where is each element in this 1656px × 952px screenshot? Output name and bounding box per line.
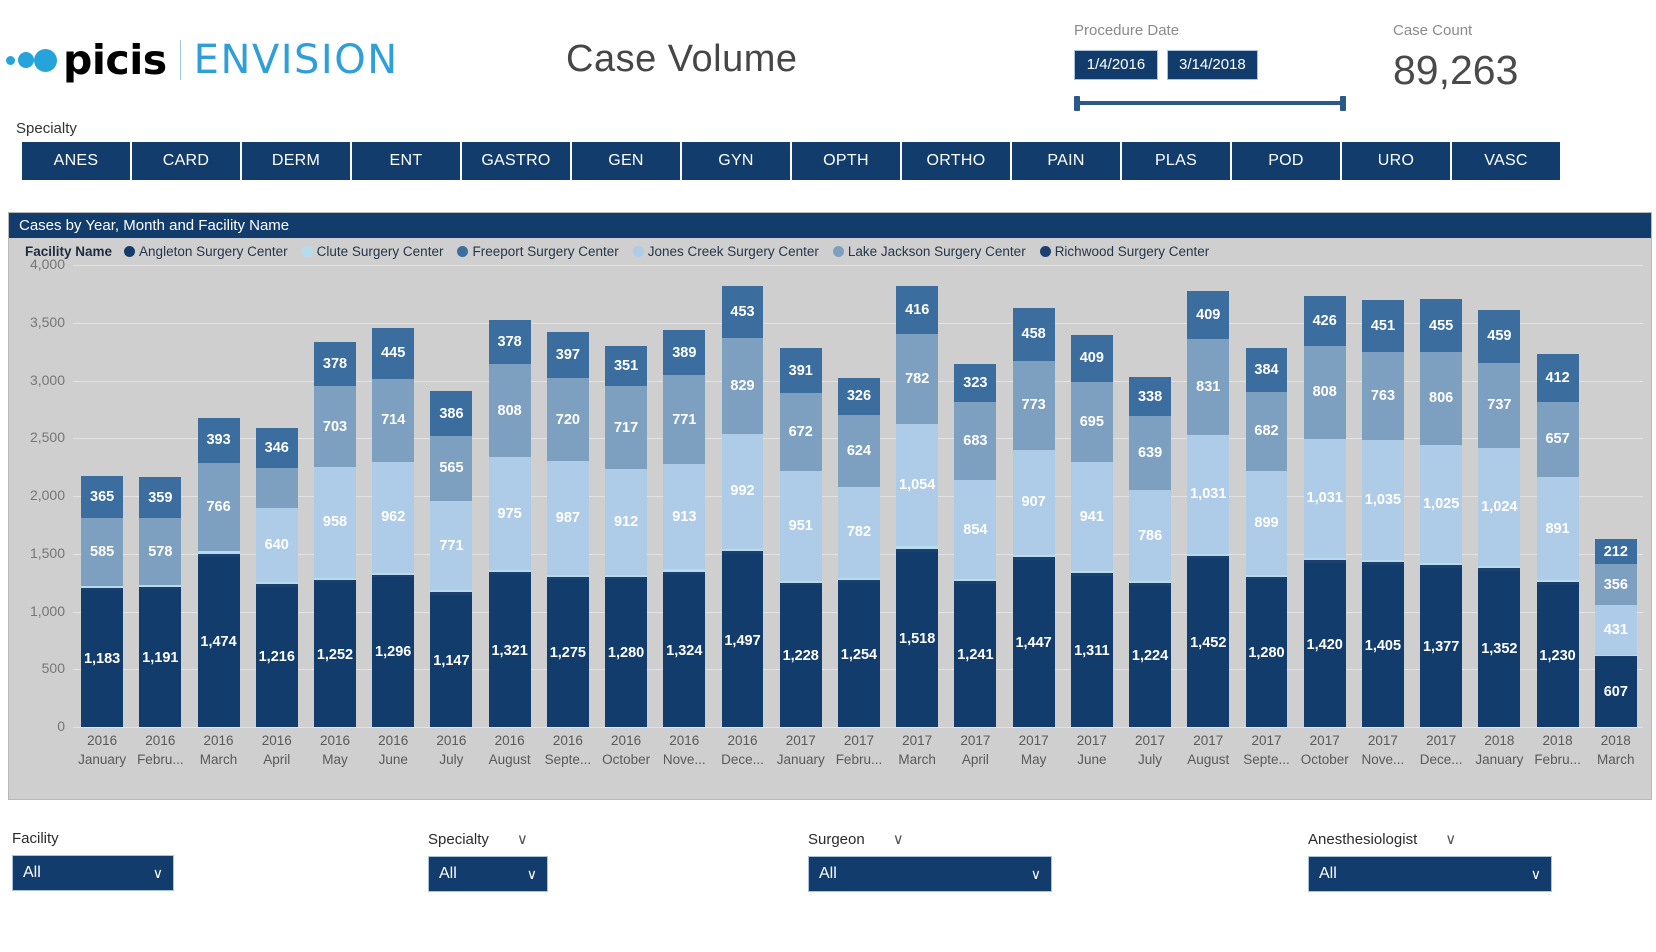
bar-segment[interactable]: 1,183 — [81, 590, 123, 727]
bar-segment[interactable]: 808 — [489, 364, 531, 457]
bar-segment[interactable]: 1,405 — [1362, 565, 1404, 727]
bar-segment-label: 975 — [498, 506, 522, 522]
bar-segment[interactable]: 386 — [430, 391, 472, 436]
bar-segment[interactable]: 782 — [838, 487, 880, 577]
bar-segment[interactable]: 445 — [372, 328, 414, 379]
chart-column[interactable]: 1,296962714445 — [364, 265, 422, 727]
chevron-down-icon[interactable]: ∨ — [1445, 830, 1456, 848]
bar-segment[interactable]: 1,147 — [430, 595, 472, 727]
bar-segment[interactable]: 412 — [1537, 354, 1579, 402]
bar-segment[interactable]: 831 — [1187, 339, 1229, 435]
chart-column[interactable]: 1,3521,024737459 — [1470, 265, 1528, 727]
bar-segment-label: 346 — [265, 440, 289, 456]
bar-segment[interactable]: 1,241 — [954, 584, 996, 727]
bar-segment[interactable]: 346 — [256, 428, 298, 468]
chart-column[interactable]: 1,275987720397 — [539, 265, 597, 727]
bar-segment[interactable]: 624 — [838, 415, 880, 487]
bar-segment[interactable]: 378 — [489, 320, 531, 364]
x-axis-month: Dece... — [1412, 750, 1470, 769]
filter-anesthesiologist: Anesthesiologist∨All∨ — [1308, 830, 1552, 892]
y-axis-tick-label: 3,500 — [9, 314, 65, 330]
bar-segment-label: 714 — [381, 412, 405, 428]
bar-segment-label: 1,054 — [899, 477, 935, 493]
chart-column[interactable]: 1,311941695409 — [1063, 265, 1121, 727]
bar-segment[interactable]: 771 — [430, 501, 472, 590]
bar-segment-label: 391 — [789, 363, 813, 379]
filter-label: Anesthesiologist — [1308, 831, 1417, 848]
x-axis-tick-label: 2017Nove... — [1354, 731, 1412, 769]
bar-segment[interactable]: 1,497 — [722, 554, 764, 727]
bar-segment-label: 1,252 — [317, 647, 353, 663]
bar-segment[interactable]: 338 — [1129, 377, 1171, 416]
chevron-down-icon[interactable]: ∨ — [893, 830, 904, 848]
bar-segment-label: 338 — [1138, 389, 1162, 405]
bar-segment[interactable]: 459 — [1478, 310, 1520, 363]
bar-segment[interactable]: 1,352 — [1478, 571, 1520, 727]
bar-segment[interactable]: 639 — [1129, 416, 1171, 490]
bar-segment[interactable]: 1,296 — [372, 577, 414, 727]
x-axis-year: 2017 — [830, 731, 888, 750]
gridline — [73, 727, 1643, 728]
specialty-bar-label: Specialty — [16, 120, 77, 137]
x-axis-tick-label: 2017Septe... — [1237, 731, 1295, 769]
specialty-tab-ortho[interactable]: ORTHO — [902, 142, 1010, 180]
chart-column[interactable]: 1,252958703378 — [306, 265, 364, 727]
bar-segment-label: 951 — [789, 518, 813, 534]
bar-segment[interactable]: 455 — [1420, 299, 1462, 352]
page-title: Case Volume — [566, 38, 798, 81]
bar-segment[interactable]: 1,054 — [896, 424, 938, 546]
bar-segment[interactable]: 426 — [1304, 296, 1346, 345]
bar-segment[interactable]: 951 — [780, 471, 822, 581]
legend-item[interactable]: Richwood Surgery Center — [1040, 244, 1210, 259]
bar-segment-label: 829 — [730, 378, 754, 394]
bar-segment[interactable]: 453 — [722, 286, 764, 338]
procedure-date-label: Procedure Date — [1074, 22, 1374, 39]
chart-column[interactable]: 1,230891657412 — [1528, 265, 1586, 727]
specialty-filter-bar: Specialty ANESCARDDERMENTGASTROGENGYNOPT… — [0, 118, 1656, 198]
bar-segment[interactable]: 1,447 — [1013, 560, 1055, 727]
chart-column[interactable]: 1,183585365 — [73, 265, 131, 727]
bar-segment-label: 378 — [323, 356, 347, 372]
x-axis-tick-label: 2018January — [1470, 731, 1528, 769]
legend-label: Jones Creek Surgery Center — [648, 244, 819, 259]
bar-segment[interactable]: 1,025 — [1420, 445, 1462, 563]
chevron-down-icon[interactable]: ∨ — [1031, 866, 1041, 883]
x-axis-year: 2017 — [1237, 731, 1295, 750]
bar-segment-label: 703 — [323, 419, 347, 435]
bar-segment[interactable]: 907 — [1013, 450, 1055, 555]
legend-label: Clute Surgery Center — [317, 244, 444, 259]
bar-segment[interactable]: 1,031 — [1187, 435, 1229, 554]
x-axis-month: March — [189, 750, 247, 769]
filter-label: Facility — [12, 830, 59, 847]
bar-segment[interactable]: 891 — [1537, 477, 1579, 580]
bar-segment-label: 365 — [90, 489, 114, 505]
chart-column[interactable]: 1,447907773458 — [1005, 265, 1063, 727]
date-range-slider[interactable] — [1074, 96, 1346, 110]
x-axis-month: Dece... — [713, 750, 771, 769]
chart-column[interactable]: 1,4521,031831409 — [1179, 265, 1237, 727]
bar-segment[interactable]: 1,254 — [838, 582, 880, 727]
y-axis-tick-label: 1,500 — [9, 545, 65, 561]
slider-handle-right[interactable] — [1340, 96, 1346, 111]
bar-segment[interactable]: 384 — [1246, 348, 1288, 392]
bar-segment-label: 1,280 — [1248, 645, 1284, 661]
filter-select-facility[interactable]: All∨ — [12, 855, 174, 891]
bar-segment[interactable]: 212 — [1595, 539, 1637, 563]
procedure-date-filter: Procedure Date 1/4/2016 3/14/2018 — [1074, 22, 1374, 110]
chart-x-axis: 2016January2016Febru...2016March2016Apri… — [73, 731, 1645, 769]
x-axis-year: 2016 — [131, 731, 189, 750]
bar-segment[interactable]: 913 — [663, 464, 705, 569]
specialty-tab-card[interactable]: CARD — [132, 142, 240, 180]
specialty-tab-uro[interactable]: URO — [1342, 142, 1450, 180]
legend-item[interactable]: Jones Creek Surgery Center — [633, 244, 819, 259]
x-axis-tick-label: 2017January — [772, 731, 830, 769]
bar-segment-label: 1,241 — [957, 647, 993, 663]
x-axis-tick-label: 2016August — [481, 731, 539, 769]
y-axis-tick-label: 0 — [9, 718, 65, 734]
bar-segment-label: 737 — [1487, 397, 1511, 413]
specialty-tab-anes[interactable]: ANES — [22, 142, 130, 180]
specialty-tab-gen[interactable]: GEN — [572, 142, 680, 180]
filter-select-surgeon[interactable]: All∨ — [808, 856, 1052, 892]
x-axis-month: January — [1470, 750, 1528, 769]
bar-segment-label: 1,025 — [1423, 496, 1459, 512]
bar-segment-label: 393 — [206, 432, 230, 448]
bar-segment-label: 1,497 — [724, 633, 760, 649]
bar-segment[interactable]: 409 — [1071, 335, 1113, 382]
bar-segment-label: 987 — [556, 510, 580, 526]
bar-segment-label: 771 — [439, 538, 463, 554]
x-axis-month: Febru... — [131, 750, 189, 769]
bar-segment[interactable]: 409 — [1187, 291, 1229, 338]
bar-segment[interactable]: 1,031 — [1304, 439, 1346, 558]
case-count-card: Case Count 89,263 — [1393, 22, 1518, 94]
chart-column[interactable]: 1,474766393 — [189, 265, 247, 727]
bar-segment[interactable]: 578 — [139, 518, 181, 585]
x-axis-month: May — [1005, 750, 1063, 769]
bar-segment[interactable] — [256, 468, 298, 508]
bar-segment-label: 359 — [148, 490, 172, 506]
specialty-tab-derm[interactable]: DERM — [242, 142, 350, 180]
x-axis-year: 2016 — [364, 731, 422, 750]
chart-column[interactable]: 1,280912717351 — [597, 265, 655, 727]
y-axis-tick-label: 500 — [9, 660, 65, 676]
bar-segment[interactable]: 323 — [954, 364, 996, 401]
bar-segment-label: 1,280 — [608, 645, 644, 661]
date-start-input[interactable]: 1/4/2016 — [1074, 50, 1158, 80]
bar-segment[interactable]: 1,228 — [780, 585, 822, 727]
bar-segment[interactable]: 1,024 — [1478, 448, 1520, 566]
bar-segment-label: 1,296 — [375, 644, 411, 660]
chevron-down-icon[interactable]: ∨ — [527, 866, 537, 883]
bar-segment[interactable]: 1,474 — [198, 557, 240, 727]
bar-segment-label: 397 — [556, 347, 580, 363]
bar-segment[interactable]: 1,324 — [663, 574, 705, 727]
bar-segment-label: 683 — [963, 433, 987, 449]
bar-segment[interactable]: 1,280 — [605, 579, 647, 727]
chart-column[interactable]: 1,497992829453 — [713, 265, 771, 727]
bar-segment[interactable]: 1,321 — [489, 574, 531, 727]
bar-segment[interactable]: 451 — [1362, 300, 1404, 352]
case-count-label: Case Count — [1393, 22, 1518, 39]
bar-segment[interactable]: 1,252 — [314, 582, 356, 727]
chart-legend: Facility Name Angleton Surgery CenterClu… — [9, 238, 1651, 261]
specialty-tab-gastro[interactable]: GASTRO — [462, 142, 570, 180]
bar-segment[interactable]: 1,191 — [139, 589, 181, 727]
x-axis-year: 2017 — [1005, 731, 1063, 750]
legend-item[interactable]: Lake Jackson Surgery Center — [833, 244, 1026, 259]
filter-selected-value: All — [23, 864, 41, 882]
bar-segment[interactable]: 607 — [1595, 657, 1637, 727]
bar-segment[interactable]: 1,035 — [1362, 440, 1404, 560]
x-axis-year: 2018 — [1528, 731, 1586, 750]
bar-segment[interactable]: 458 — [1013, 308, 1055, 361]
bar-segment-label: 639 — [1138, 445, 1162, 461]
bar-segment-label: 1,024 — [1481, 499, 1517, 515]
chart-column[interactable]: 1,147771565386 — [422, 265, 480, 727]
bar-segment[interactable]: 1,230 — [1537, 585, 1579, 727]
x-axis-tick-label: 2016March — [189, 731, 247, 769]
x-axis-year: 2017 — [888, 731, 946, 750]
bar-segment[interactable]: 326 — [838, 378, 880, 416]
chevron-down-icon[interactable]: ∨ — [153, 865, 163, 882]
bar-segment[interactable]: 416 — [896, 286, 938, 334]
specialty-tab-pain[interactable]: PAIN — [1012, 142, 1120, 180]
specialty-tab-opth[interactable]: OPTH — [792, 142, 900, 180]
bar-segment[interactable]: 714 — [372, 379, 414, 461]
chart-column[interactable]: 1,4201,031808426 — [1296, 265, 1354, 727]
chart-column[interactable]: 1,324913771389 — [655, 265, 713, 727]
bar-segment[interactable]: 703 — [314, 386, 356, 467]
chart-plot-area: 05001,0001,5002,0002,5003,0003,5004,000 … — [9, 265, 1651, 785]
bar-segment[interactable]: 717 — [605, 386, 647, 469]
chart-column[interactable]: 1,321975808378 — [481, 265, 539, 727]
bar-segment-label: 1,324 — [666, 643, 702, 659]
x-axis-tick-label: 2017August — [1179, 731, 1237, 769]
bar-segment-label: 459 — [1487, 328, 1511, 344]
bar-segment-label: 941 — [1080, 509, 1104, 525]
bar-segment-label: 1,147 — [433, 653, 469, 669]
chart-column[interactable]: 1,241854683323 — [946, 265, 1004, 727]
x-axis-tick-label: 2016April — [248, 731, 306, 769]
bar-segment[interactable]: 987 — [547, 461, 589, 575]
bar-segment[interactable]: 657 — [1537, 402, 1579, 478]
bar-segment[interactable]: 766 — [198, 463, 240, 551]
bar-segment[interactable]: 975 — [489, 457, 531, 570]
bar-segment[interactable]: 565 — [430, 436, 472, 501]
bar-segment[interactable]: 585 — [81, 518, 123, 586]
bar-segment[interactable]: 1,518 — [896, 552, 938, 727]
bar-segment[interactable]: 391 — [780, 348, 822, 393]
bar-segment-label: 409 — [1080, 350, 1104, 366]
x-axis-tick-label: 2016Febru... — [131, 731, 189, 769]
bar-segment[interactable]: 682 — [1246, 392, 1288, 471]
legend-label: Lake Jackson Surgery Center — [848, 244, 1026, 259]
legend-label: Richwood Surgery Center — [1055, 244, 1210, 259]
filter-selected-value: All — [819, 865, 837, 883]
bar-segment[interactable]: 672 — [780, 393, 822, 471]
bar-segment-label: 1,230 — [1539, 648, 1575, 664]
bar-segment-label: 854 — [963, 522, 987, 538]
bar-segment[interactable]: 393 — [198, 418, 240, 463]
x-axis-tick-label: 2018Febru... — [1528, 731, 1586, 769]
bar-segment[interactable]: 431 — [1595, 605, 1637, 655]
bar-segment[interactable]: 763 — [1362, 352, 1404, 440]
bar-segment-label: 1,447 — [1015, 635, 1051, 651]
bar-segment-label: 453 — [730, 304, 754, 320]
bar-segment[interactable]: 356 — [1595, 564, 1637, 605]
bar-segment[interactable]: 365 — [81, 476, 123, 518]
x-axis-month: July — [1121, 750, 1179, 769]
bar-segment-label: 351 — [614, 358, 638, 374]
bar-segment-label: 891 — [1545, 521, 1569, 537]
bar-segment-label: 808 — [1313, 384, 1337, 400]
bar-segment[interactable]: 958 — [314, 467, 356, 578]
chart-column[interactable]: 1,3771,025806455 — [1412, 265, 1470, 727]
bar-segment[interactable]: 941 — [1071, 462, 1113, 571]
bar-segment[interactable]: 720 — [547, 378, 589, 461]
bar-segment[interactable]: 1,377 — [1420, 568, 1462, 727]
bar-segment-label: 451 — [1371, 318, 1395, 334]
bar-segment-label: 624 — [847, 443, 871, 459]
chart-column[interactable]: 1,216640346 — [248, 265, 306, 727]
bar-segment-label: 323 — [963, 375, 987, 391]
bar-segment-label: 426 — [1313, 313, 1337, 329]
bar-segment-label: 720 — [556, 412, 580, 428]
slider-track[interactable] — [1076, 101, 1344, 105]
x-axis-year: 2016 — [306, 731, 364, 750]
bar-segment[interactable]: 899 — [1246, 471, 1288, 575]
chevron-down-icon[interactable]: ∨ — [517, 830, 528, 848]
legend-item[interactable]: Freeport Surgery Center — [457, 244, 618, 259]
bar-segment-label: 1,191 — [142, 650, 178, 666]
bar-segment-label: 1,474 — [200, 634, 236, 650]
x-axis-tick-label: 2017Febru... — [830, 731, 888, 769]
filter-select-anesthesiologist[interactable]: All∨ — [1308, 856, 1552, 892]
legend-swatch-icon — [633, 246, 644, 257]
bar-segment[interactable]: 992 — [722, 434, 764, 549]
x-axis-month: Febru... — [830, 750, 888, 769]
x-axis-month: August — [1179, 750, 1237, 769]
x-axis-year: 2017 — [1063, 731, 1121, 750]
x-axis-month: March — [1587, 750, 1645, 769]
chart-column[interactable]: 1,224786639338 — [1121, 265, 1179, 727]
bar-segment[interactable]: 1,452 — [1187, 559, 1229, 727]
x-axis-year: 2017 — [946, 731, 1004, 750]
bar-segment-label: 1,035 — [1365, 492, 1401, 508]
bar-segment[interactable]: 683 — [954, 402, 996, 481]
filter-selected-value: All — [1319, 865, 1337, 883]
bar-segment-label: 1,031 — [1307, 490, 1343, 506]
specialty-tab-pod[interactable]: POD — [1232, 142, 1340, 180]
chart-column[interactable]: 1,280899682384 — [1237, 265, 1295, 727]
x-axis-year: 2016 — [655, 731, 713, 750]
bar-segment[interactable]: 351 — [605, 346, 647, 387]
bar-segment-label: 378 — [498, 334, 522, 350]
bar-segment-label: 445 — [381, 345, 405, 361]
bar-segment-label: 831 — [1196, 379, 1220, 395]
bar-segment[interactable]: 773 — [1013, 361, 1055, 450]
bar-segment[interactable]: 1,275 — [547, 580, 589, 727]
date-end-input[interactable]: 3/14/2018 — [1167, 50, 1258, 80]
chart-column[interactable]: 607431356212 — [1587, 265, 1645, 727]
filter-label: Surgeon — [808, 831, 865, 848]
chart-column[interactable]: 1,4051,035763451 — [1354, 265, 1412, 727]
x-axis-year: 2017 — [1179, 731, 1237, 750]
x-axis-year: 2016 — [481, 731, 539, 750]
bar-segment[interactable]: 782 — [896, 334, 938, 424]
bar-segment[interactable]: 389 — [663, 330, 705, 375]
legend-item[interactable]: Angleton Surgery Center — [124, 244, 288, 259]
bar-segment[interactable]: 1,311 — [1071, 576, 1113, 727]
bar-segment[interactable]: 1,224 — [1129, 586, 1171, 727]
bar-segment[interactable]: 359 — [139, 477, 181, 518]
x-axis-year: 2016 — [539, 731, 597, 750]
x-axis-tick-label: 2016Septe... — [539, 731, 597, 769]
bar-segment[interactable]: 962 — [372, 462, 414, 573]
specialty-tab-ent[interactable]: ENT — [352, 142, 460, 180]
filter-select-specialty[interactable]: All∨ — [428, 856, 548, 892]
bar-segment-label: 672 — [789, 424, 813, 440]
bar-segment[interactable]: 806 — [1420, 352, 1462, 445]
bar-segment[interactable]: 829 — [722, 338, 764, 434]
bar-segment[interactable]: 786 — [1129, 490, 1171, 581]
chart-column[interactable]: 1,5181,054782416 — [888, 265, 946, 727]
legend-item[interactable]: Clute Surgery Center — [302, 244, 444, 259]
specialty-tab-plas[interactable]: PLAS — [1122, 142, 1230, 180]
filter-selected-value: All — [439, 865, 457, 883]
bar-segment[interactable]: 1,420 — [1304, 563, 1346, 727]
bar-segment-label: 786 — [1138, 528, 1162, 544]
specialty-tab-gyn[interactable]: GYN — [682, 142, 790, 180]
bar-segment[interactable]: 695 — [1071, 382, 1113, 462]
bar-segment[interactable]: 640 — [256, 508, 298, 582]
chart-column[interactable]: 1,254782624326 — [830, 265, 888, 727]
x-axis-year: 2016 — [189, 731, 247, 750]
x-axis-year: 2017 — [1121, 731, 1179, 750]
bar-segment[interactable]: 378 — [314, 342, 356, 386]
bar-segment-label: 962 — [381, 509, 405, 525]
slider-handle-left[interactable] — [1074, 96, 1080, 111]
bar-segment[interactable]: 737 — [1478, 363, 1520, 448]
bar-segment[interactable]: 808 — [1304, 346, 1346, 439]
bar-segment-label: 766 — [206, 499, 230, 515]
product-name: ENVISION — [194, 40, 399, 80]
x-axis-year: 2017 — [1412, 731, 1470, 750]
bar-segment[interactable]: 854 — [954, 480, 996, 579]
chevron-down-icon[interactable]: ∨ — [1531, 866, 1541, 883]
specialty-tab-vasc[interactable]: VASC — [1452, 142, 1560, 180]
case-count-value: 89,263 — [1393, 47, 1518, 94]
bar-segment-label: 771 — [672, 412, 696, 428]
bar-segment[interactable]: 1,216 — [256, 587, 298, 727]
x-axis-tick-label: 2016Dece... — [713, 731, 771, 769]
chart-column[interactable]: 1,191578359 — [131, 265, 189, 727]
bar-segment-label: 431 — [1604, 622, 1628, 638]
bar-segment[interactable]: 397 — [547, 332, 589, 378]
bar-segment-label: 1,518 — [899, 631, 935, 647]
bar-segment-label: 1,183 — [84, 651, 120, 667]
y-axis-tick-label: 4,000 — [9, 256, 65, 272]
bar-segment[interactable]: 1,280 — [1246, 579, 1288, 727]
bar-segment[interactable]: 771 — [663, 375, 705, 464]
chart-column[interactable]: 1,228951672391 — [772, 265, 830, 727]
x-axis-month: March — [888, 750, 946, 769]
bar-segment[interactable]: 912 — [605, 469, 647, 574]
